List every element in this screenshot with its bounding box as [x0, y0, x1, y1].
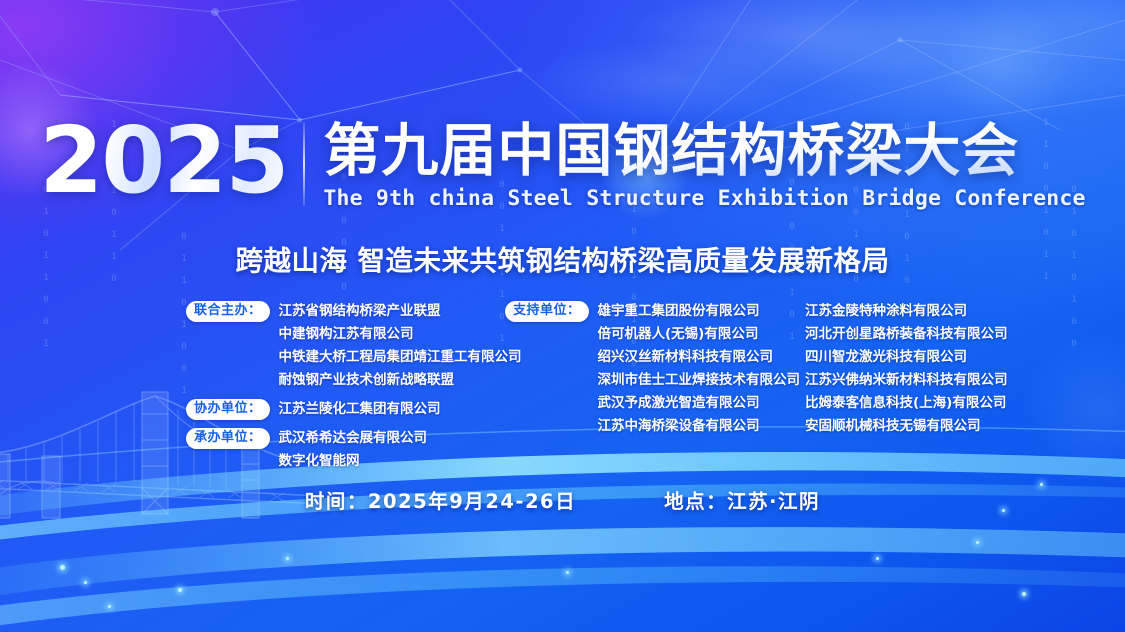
status-badge: 承办单位：	[186, 428, 270, 449]
page-title: 第九届中国钢结构桥梁大会	[323, 118, 1085, 184]
status-badge: 联合主办：	[186, 301, 270, 322]
sponsor-column-left: 联合主办： 江苏省钢结构桥梁产业联盟 中建钢构江苏有限公司 中铁建大桥工程局集团…	[186, 300, 486, 479]
status-badge: 协办单位：	[186, 399, 270, 420]
list-item: 江苏省钢结构桥梁产业联盟	[279, 300, 522, 323]
sponsor-group-supporter: 支持单位： 雄宇重工集团股份有限公司 倍可机器人(无锡)有限公司 绍兴汉丝新材料…	[505, 300, 795, 438]
sponsor-group-co-organizer: 协办单位： 江苏兰陵化工集团有限公司	[186, 398, 486, 421]
event-date: 时间：2025年9月24-26日	[305, 485, 576, 514]
list-item: 江苏中海桥梁设备有限公司	[598, 415, 801, 438]
sponsor-name-list: 武汉希希达会展有限公司 数字化智能网	[270, 427, 428, 473]
list-item: 江苏兴佛纳米新材料科技有限公司	[805, 369, 1105, 392]
sponsor-column-middle: 支持单位： 雄宇重工集团股份有限公司 倍可机器人(无锡)有限公司 绍兴汉丝新材料…	[505, 300, 795, 444]
list-item: 江苏兰陵化工集团有限公司	[279, 398, 441, 421]
sponsor-section: 联合主办： 江苏省钢结构桥梁产业联盟 中建钢构江苏有限公司 中铁建大桥工程局集团…	[0, 300, 1125, 445]
footer-info: 时间：2025年9月24-26日 地点：江苏·江阴	[0, 485, 1125, 514]
list-item: 江苏金陵特种涂料有限公司	[805, 300, 1105, 323]
status-badge: 支持单位：	[505, 301, 589, 322]
page-subtitle: The 9th china Steel Structure Exhibition…	[323, 186, 1085, 212]
year-text: 2025	[39, 118, 303, 204]
title-block: 第九届中国钢结构桥梁大会 The 9th china Steel Structu…	[305, 118, 1085, 212]
sponsor-name-list: 江苏金陵特种涂料有限公司 河北开创星路桥装备科技有限公司 四川智龙激光科技有限公…	[805, 300, 1105, 438]
list-item: 数字化智能网	[279, 450, 428, 473]
event-location: 地点：江苏·江阴	[664, 485, 820, 514]
sponsor-group-organizer: 承办单位： 武汉希希达会展有限公司 数字化智能网	[186, 427, 486, 473]
sponsor-name-list: 江苏兰陵化工集团有限公司	[270, 398, 441, 421]
list-item: 武汉予成激光智造有限公司	[598, 392, 801, 415]
list-item: 武汉希希达会展有限公司	[279, 427, 428, 450]
list-item: 比姆泰客信息科技(上海)有限公司	[805, 392, 1105, 415]
list-item: 中建钢构江苏有限公司	[279, 323, 522, 346]
list-item: 中铁建大桥工程局集团靖江重工有限公司	[279, 346, 522, 369]
conference-banner: 0 1 0 1 1 0 0 1 1 0 0 1 0 1 1 0 0 1 1 0 …	[0, 0, 1125, 632]
title-row: 2025 第九届中国钢结构桥梁大会 The 9th china Steel St…	[0, 118, 1125, 212]
sponsor-column-right: 江苏金陵特种涂料有限公司 河北开创星路桥装备科技有限公司 四川智龙激光科技有限公…	[805, 300, 1105, 438]
list-item: 深圳市佳士工业焊接技术有限公司	[598, 369, 801, 392]
sponsor-group-co-host: 联合主办： 江苏省钢结构桥梁产业联盟 中建钢构江苏有限公司 中铁建大桥工程局集团…	[186, 300, 486, 392]
list-item: 耐蚀钢产业技术创新战略联盟	[279, 369, 522, 392]
list-item: 安固顺机械科技无锡有限公司	[805, 415, 1105, 438]
list-item: 河北开创星路桥装备科技有限公司	[805, 323, 1105, 346]
list-item: 四川智龙激光科技有限公司	[805, 346, 1105, 369]
list-item: 雄宇重工集团股份有限公司	[598, 300, 801, 323]
sponsor-name-list: 江苏省钢结构桥梁产业联盟 中建钢构江苏有限公司 中铁建大桥工程局集团靖江重工有限…	[270, 300, 522, 392]
banner-content: 2025 第九届中国钢结构桥梁大会 The 9th china Steel St…	[0, 0, 1125, 632]
slogan-text: 跨越山海 智造未来共筑钢结构桥梁高质量发展新格局	[0, 238, 1125, 278]
sponsor-name-list: 雄宇重工集团股份有限公司 倍可机器人(无锡)有限公司 绍兴汉丝新材料科技有限公司…	[589, 300, 801, 438]
list-item: 倍可机器人(无锡)有限公司	[598, 323, 801, 346]
list-item: 绍兴汉丝新材料科技有限公司	[598, 346, 801, 369]
